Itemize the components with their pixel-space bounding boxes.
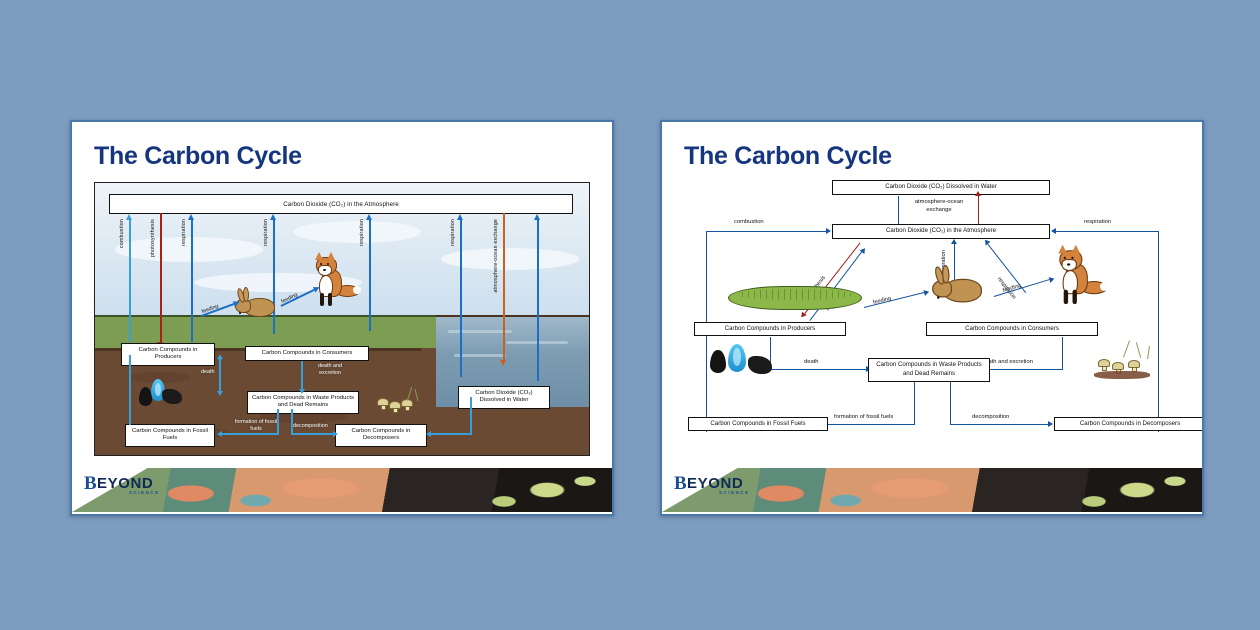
gas-droplet-icon: [728, 344, 746, 372]
fox-eye: [327, 263, 329, 265]
fox-eye: [1071, 257, 1073, 259]
label-formation-of-fossil-fuels: formation of fossil fuels: [230, 419, 282, 433]
arrow-respiration-fox: [369, 219, 371, 331]
label-respiration: respiration: [182, 219, 187, 246]
fox-nose: [323, 269, 326, 271]
mushroom-cluster-illustration: [1092, 340, 1158, 384]
arrow-atmosphere-ocean-down: [503, 213, 505, 361]
box-consumers: Carbon Compounds in Consumers: [926, 322, 1098, 336]
fox-illustration: [1056, 248, 1118, 325]
label-respiration: respiration: [1084, 219, 1111, 227]
label-combustion: combustion: [734, 219, 764, 227]
fox-leg: [328, 293, 332, 306]
oil-droplet-icon: [139, 387, 152, 406]
fox-leg: [1064, 290, 1068, 304]
connector-ocean-decomposers: [470, 397, 472, 435]
logo-initial: B: [84, 474, 97, 493]
cloud: [293, 221, 421, 243]
fox-illustration: [313, 255, 363, 317]
logo-beyond-science[interactable]: B EYOND SCIENCE: [674, 474, 766, 502]
slide-left[interactable]: The Carbon Cycle Carbon Diox: [70, 120, 614, 516]
arrow-ocean-atmosphere-up: [537, 219, 539, 381]
arrow-death: [219, 357, 221, 391]
connector-waste-decomp: [291, 409, 293, 435]
cloud: [115, 237, 263, 261]
box-waste-products: Carbon Compounds in Waste Products and D…: [247, 391, 359, 414]
sea-floor: [436, 407, 589, 455]
label-decomposition: decomposition: [972, 414, 1009, 422]
carbon-cycle-flowchart: Carbon Dioxide (CO₂) Dissolved in Water …: [682, 174, 1182, 454]
logo-initial: B: [674, 474, 687, 493]
box-producers: Carbon Compounds in Producers: [694, 322, 846, 336]
arrow-respiration-rabbit: [273, 219, 275, 334]
screenshot-stage: The Carbon Cycle Carbon Diox: [0, 0, 1260, 630]
producers-moss-illustration: [728, 286, 862, 310]
rabbit-eye: [937, 296, 939, 298]
label-death: death: [804, 359, 819, 367]
mushroom-cap: [377, 398, 389, 406]
mushroom-cap: [1098, 359, 1110, 367]
box-co2-dissolved-water: Carbon Dioxide (CO₂) Dissolved in Water: [832, 180, 1050, 195]
label-death-and-excretion: death and excretion: [307, 363, 353, 377]
arrow-respiration-decomposers: [460, 219, 462, 377]
arrow-formation-of-fossil-fuels: [828, 424, 915, 425]
twig: [415, 389, 419, 401]
fox-ear: [327, 252, 335, 260]
arrow-formation-fossil-fuels: [222, 433, 278, 435]
label-combustion: combustion: [120, 219, 125, 248]
logo-subtitle: SCIENCE: [129, 491, 160, 495]
box-co2-atmosphere: Carbon Dioxide (CO₂) in the Atmosphere: [832, 224, 1050, 239]
box-co2-atmosphere: Carbon Dioxide (CO₂) in the Atmosphere: [109, 194, 573, 214]
label-respiration: respiration: [360, 219, 365, 246]
twig: [1136, 342, 1142, 358]
connector-consumers-death: [1062, 337, 1063, 369]
box-waste-products: Carbon Compounds in Waste Products and D…: [868, 358, 990, 382]
label-atmosphere-ocean-exchange: atmosphere-ocean exchange: [494, 219, 502, 293]
fox-leg: [1073, 290, 1077, 304]
mushroom-cap: [389, 401, 401, 409]
oil-droplet-icon: [710, 350, 726, 373]
fox-ear: [315, 252, 323, 260]
mushroom-cap: [1128, 360, 1140, 368]
arrow-photosynthesis: [160, 213, 162, 343]
arrow-respiration-producers: [191, 219, 193, 342]
arrow-respiration-right: [1056, 231, 1159, 232]
box-consumers: Carbon Compounds in Consumers: [245, 346, 369, 361]
arrow-combustion: [129, 219, 131, 342]
connector-ocean-to-decomposers: [431, 433, 471, 435]
label-photosynthesis: photosynthesis: [151, 219, 156, 257]
logo-subtitle: SCIENCE: [719, 491, 750, 495]
rabbit-eye: [239, 312, 241, 314]
arrow-decomposition: [291, 433, 333, 435]
arrow-ocean-to-atmosphere: [898, 196, 899, 224]
fox-tail-tip: [1100, 282, 1109, 291]
fox-tail-tip: [353, 286, 361, 294]
coal-icon: [748, 356, 772, 374]
coal-icon: [162, 389, 182, 404]
logo-wordmark: EYOND: [97, 476, 153, 491]
label-decomposition: decomposition: [293, 423, 328, 430]
fox-ear: [1071, 245, 1080, 254]
arrow-decomposition: [950, 424, 1048, 425]
mushroom-cluster-illustration: [373, 387, 425, 421]
fox-eye: [1064, 257, 1066, 259]
arrow-death: [770, 369, 866, 370]
twig: [1123, 340, 1130, 357]
twig: [1147, 346, 1150, 359]
rabbit-illustration: [235, 291, 277, 315]
box-fossil-fuels: Carbon Compounds in Fossil Fuels: [125, 424, 215, 447]
slide-footer-left: B EYOND SCIENCE: [72, 464, 612, 514]
carbon-cycle-illustration: Carbon Dioxide (CO₂) in the Atmosphere c…: [94, 182, 590, 456]
box-decomposers: Carbon Compounds in Decomposers: [1054, 417, 1204, 431]
label-death: death: [201, 369, 215, 376]
rabbit-illustration: [932, 270, 1002, 313]
slide-footer-right: B EYOND SCIENCE: [662, 464, 1202, 514]
fox-eye: [320, 263, 322, 265]
label-respiration: respiration: [451, 219, 456, 246]
page-title-right: The Carbon Cycle: [684, 144, 892, 169]
label-formation-of-fossil-fuels: formation of fossil fuels: [834, 414, 893, 422]
page-title-left: The Carbon Cycle: [94, 144, 302, 169]
connector-respiration-vertical: [1158, 232, 1159, 432]
arrow-combustion: [706, 231, 826, 232]
connector-fossil-combustion: [129, 355, 131, 425]
label-feeding: feeding: [873, 296, 892, 306]
fox-nose: [1067, 263, 1070, 265]
rabbit-ear: [942, 265, 950, 284]
rabbit-ear: [243, 287, 250, 302]
decomposer-soil: [1094, 371, 1150, 379]
mushroom-cap: [1112, 362, 1124, 370]
fox-leg: [320, 293, 324, 306]
box-decomposers: Carbon Compounds in Decomposers: [335, 424, 427, 447]
connector-waste-decomposition: [950, 382, 951, 424]
arrow-atmosphere-to-ocean: [978, 196, 979, 224]
box-fossil-fuels: Carbon Compounds in Fossil Fuels: [688, 417, 828, 431]
connector-waste-fossil: [914, 382, 915, 424]
label-respiration: respiration: [264, 219, 269, 246]
label-atmosphere-ocean-exchange: atmosphere-ocean exchange: [906, 199, 972, 214]
slide-right[interactable]: The Carbon Cycle Carbon Dioxide (CO₂) Di…: [660, 120, 1204, 516]
arrow-death-excretion: [301, 361, 303, 389]
box-producers: Carbon Compounds in Producers: [121, 343, 215, 366]
fox-ear: [1058, 245, 1067, 254]
logo-wordmark: EYOND: [687, 476, 743, 491]
logo-beyond-science[interactable]: B EYOND SCIENCE: [84, 474, 176, 502]
